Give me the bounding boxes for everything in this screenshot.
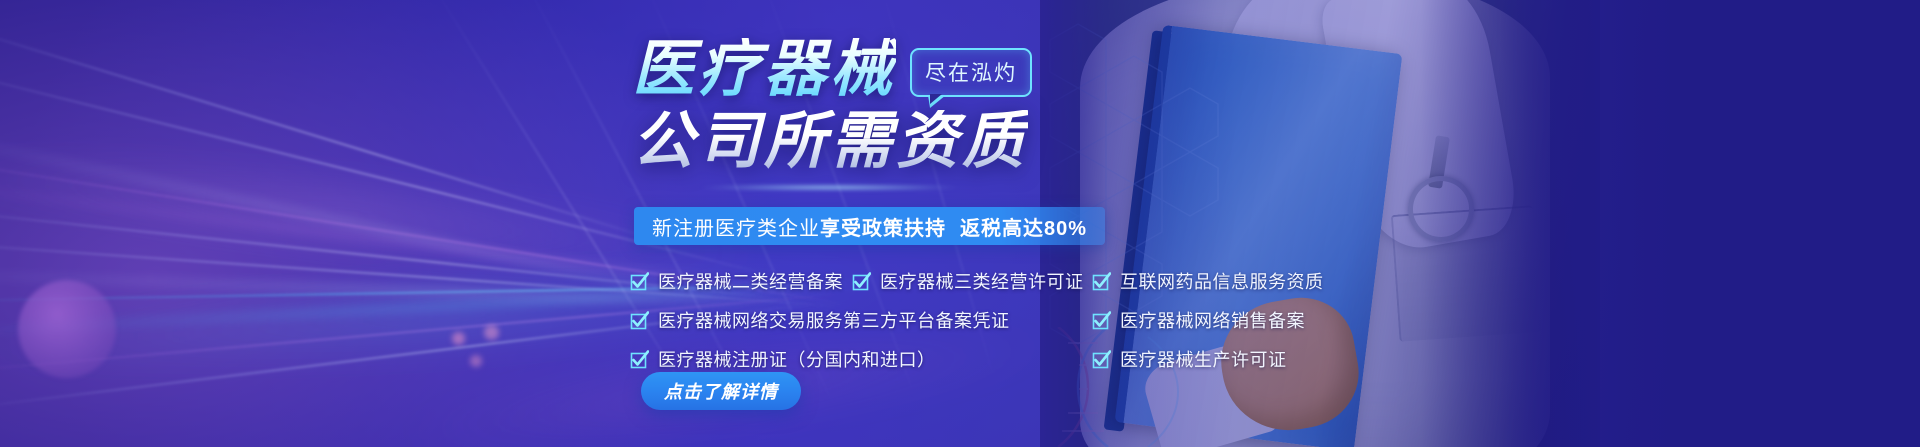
checklist-item[interactable]: 医疗器械网络交易服务第三方平台备案凭证 — [630, 307, 1092, 333]
headline-line-2: 公司所需资质 — [632, 110, 1028, 172]
checklist-item-label: 医疗器械三类经营许可证 — [880, 268, 1084, 294]
checklist-item[interactable]: 医疗器械三类经营许可证 — [852, 268, 1092, 294]
check-box-icon — [1092, 272, 1111, 291]
checklist-row: 医疗器械注册证（分国内和进口） 医疗器械生产许可证 — [630, 346, 1324, 372]
checklist-item[interactable]: 医疗器械二类经营备案 — [630, 268, 852, 294]
checklist-item[interactable]: 医疗器械生产许可证 — [1092, 346, 1287, 372]
promo-text-plain-1: 新注册医疗类企业 — [652, 212, 820, 241]
slogan-badge: 尽在泓灼 — [910, 48, 1032, 97]
checklist-item-label: 医疗器械二类经营备案 — [658, 268, 843, 294]
check-box-icon — [630, 311, 649, 330]
checklist-item[interactable]: 医疗器械注册证（分国内和进口） — [630, 346, 1092, 372]
check-box-icon — [630, 350, 649, 369]
slogan-badge-label: 尽在泓灼 — [925, 62, 1017, 85]
headline-row: 医疗器械 尽在泓灼 — [632, 38, 1032, 100]
checklist-item-label: 医疗器械注册证（分国内和进口） — [658, 346, 936, 372]
checklist-row: 医疗器械二类经营备案 医疗器械三类经营许可证 — [630, 268, 1324, 294]
banner-content: 医疗器械 尽在泓灼 公司所需资质 新注册医疗类企业 享受政策扶持 返税高达80% — [0, 0, 1920, 447]
checklist-item[interactable]: 医疗器械网络销售备案 — [1092, 307, 1305, 333]
checklist-item-label: 医疗器械网络交易服务第三方平台备案凭证 — [658, 307, 1010, 333]
learn-more-button-label: 点击了解详情 — [664, 378, 778, 404]
check-box-icon — [1092, 311, 1111, 330]
checklist-item-label: 医疗器械生产许可证 — [1120, 346, 1287, 372]
headline-underglow — [700, 185, 960, 190]
promo-subtitle-bar: 新注册医疗类企业 享受政策扶持 返税高达80% — [634, 207, 1105, 245]
check-box-icon — [630, 272, 649, 291]
learn-more-button[interactable]: 点击了解详情 — [641, 372, 801, 410]
checklist-item[interactable]: 互联网药品信息服务资质 — [1092, 268, 1324, 294]
checklist-item-label: 互联网药品信息服务资质 — [1120, 268, 1324, 294]
qualification-checklist: 医疗器械二类经营备案 医疗器械三类经营许可证 — [630, 268, 1324, 385]
headline-line-1: 医疗器械 — [632, 38, 896, 100]
promo-text-bold: 享受政策扶持 — [820, 212, 946, 241]
promo-text-plain-2: 返税高达80% — [960, 212, 1087, 241]
checklist-row: 医疗器械网络交易服务第三方平台备案凭证 医疗器械网络销售备案 — [630, 307, 1324, 333]
check-box-icon — [852, 272, 871, 291]
medical-device-qualification-banner: 医疗器械 尽在泓灼 公司所需资质 新注册医疗类企业 享受政策扶持 返税高达80% — [0, 0, 1920, 447]
checklist-item-label: 医疗器械网络销售备案 — [1120, 307, 1305, 333]
check-box-icon — [1092, 350, 1111, 369]
